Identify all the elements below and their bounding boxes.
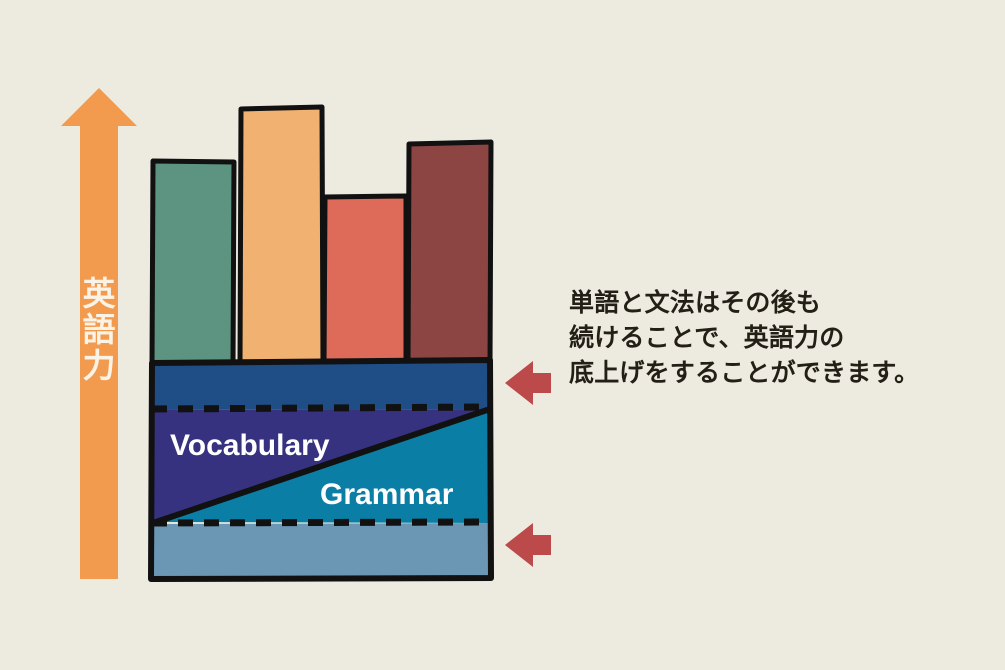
bar-darkred[interactable] bbox=[408, 142, 491, 366]
bar-salmon[interactable] bbox=[324, 196, 406, 366]
bar-orange[interactable] bbox=[240, 107, 323, 367]
axis-label-english-ability: 英語力 bbox=[78, 276, 120, 384]
annotation-text: 単語と文法はその後も 続けることで、英語力の 底上げをすることができます。 bbox=[569, 286, 969, 391]
bar-green[interactable] bbox=[152, 161, 234, 366]
vocabulary-label: Vocabulary bbox=[170, 429, 330, 462]
diagram-canvas: Vocabulary Grammar 英語力 単語と文法はその後も 続けることで… bbox=[0, 0, 1005, 670]
lower-pointer-arrow-icon bbox=[505, 523, 551, 567]
foundation-band[interactable] bbox=[152, 523, 490, 578]
stacked-base-group: Vocabulary Grammar bbox=[151, 360, 491, 579]
lower-dashed-divider bbox=[152, 522, 490, 523]
grammar-label: Grammar bbox=[320, 478, 454, 511]
upper-pointer-arrow-icon bbox=[505, 361, 551, 405]
pointer-arrows-group bbox=[505, 361, 551, 567]
top-bars-group bbox=[152, 107, 491, 367]
growth-band[interactable] bbox=[152, 361, 490, 410]
